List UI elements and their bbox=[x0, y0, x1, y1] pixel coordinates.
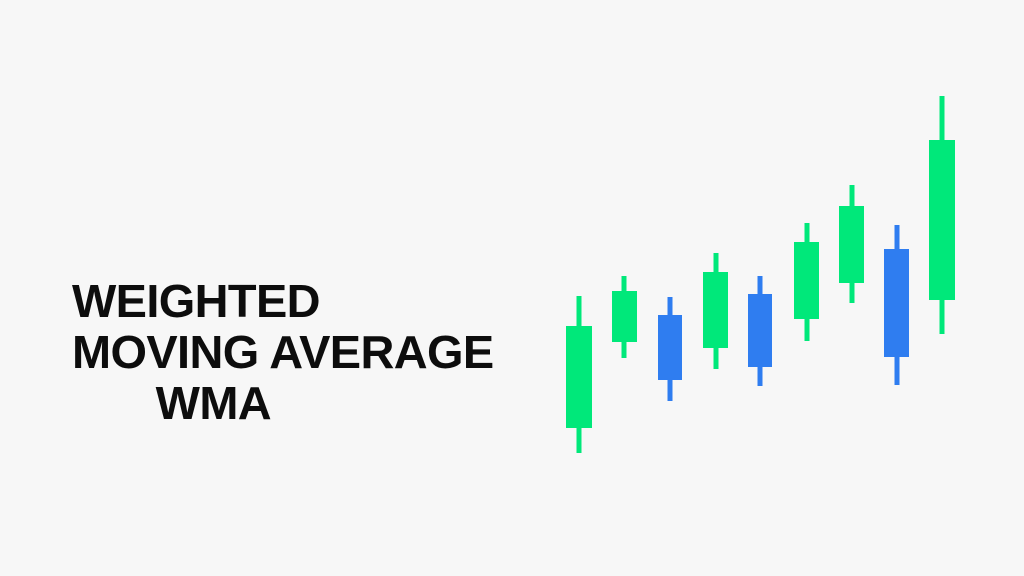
poster-canvas: WEIGHTED MOVING AVERAGE WMA bbox=[0, 0, 1024, 576]
headline-line-1: WEIGHTED bbox=[72, 276, 562, 327]
candlestick-2 bbox=[612, 276, 637, 358]
candle-body-7 bbox=[839, 206, 864, 283]
candle-body-6 bbox=[794, 242, 819, 319]
candle-body-2 bbox=[612, 291, 637, 342]
candlestick-chart bbox=[540, 60, 1000, 490]
candle-body-9 bbox=[929, 140, 955, 300]
candle-body-3 bbox=[658, 315, 682, 380]
headline-block: WEIGHTED MOVING AVERAGE WMA bbox=[72, 276, 552, 429]
candlestick-8 bbox=[884, 225, 909, 385]
headline-line-3: WMA bbox=[72, 378, 562, 429]
candlestick-svg bbox=[540, 60, 1000, 490]
candle-body-4 bbox=[703, 272, 728, 348]
candle-body-5 bbox=[748, 294, 772, 367]
candlestick-5 bbox=[748, 276, 772, 386]
candlestick-4 bbox=[703, 253, 728, 369]
candles-group bbox=[566, 96, 955, 453]
candle-body-8 bbox=[884, 249, 909, 357]
headline-line-2: MOVING AVERAGE bbox=[72, 327, 562, 378]
candlestick-7 bbox=[839, 185, 864, 303]
candlestick-3 bbox=[658, 297, 682, 401]
candle-body-1 bbox=[566, 326, 592, 428]
candlestick-1 bbox=[566, 296, 592, 453]
candlestick-6 bbox=[794, 223, 819, 341]
candlestick-9 bbox=[929, 96, 955, 334]
